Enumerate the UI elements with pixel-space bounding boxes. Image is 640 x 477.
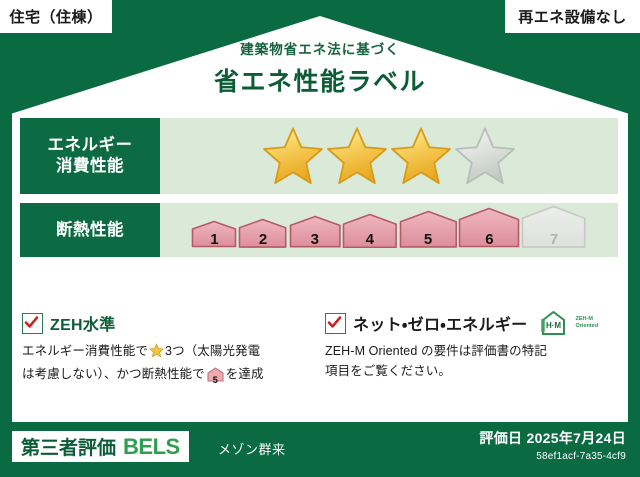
star-icon: [149, 347, 164, 361]
zeh-logo-caption-line1: ZEH-M: [575, 316, 592, 322]
title-main: 省エネ性能ラベル: [0, 62, 640, 98]
row-energy-label-line2: 消費性能: [56, 156, 124, 177]
row-insulation-label-text: 断熱性能: [56, 220, 124, 241]
note-nze-header: ネット・ゼロ・エネルギー H·M ZEH-M Oriented: [325, 312, 618, 334]
evaluation-info: 評価日 2025年7月24日 58ef1acf-7a35-4cf9: [479, 428, 626, 462]
row-energy-label: エネルギー 消費性能: [20, 118, 160, 194]
row-insulation-value: 1234567: [160, 203, 618, 257]
note-nze-title: ネット・ゼロ・エネルギー: [353, 311, 527, 335]
bels-en-text: BELS: [123, 434, 180, 460]
note-net-zero-energy: ネット・ゼロ・エネルギー H·M ZEH-M Oriented ZEH-M Or…: [325, 312, 618, 389]
notes-section: ZEH水準 エネルギー消費性能で3つ（太陽光発電は考慮しない）、かつ断熱性能で5…: [22, 312, 618, 389]
note-zeh-standard: ZEH水準 エネルギー消費性能で3つ（太陽光発電は考慮しない）、かつ断熱性能で5…: [22, 312, 315, 389]
row-energy-value: [160, 118, 618, 194]
note-zeh-header: ZEH水準: [22, 312, 315, 334]
house-icon-filled: 3: [289, 215, 341, 253]
title-subtitle: 建築物省エネ法に基づく: [0, 38, 640, 58]
checkmark-icon: [325, 313, 346, 334]
building-name: メゾン群来: [218, 439, 286, 458]
star-icon-empty: [454, 125, 516, 187]
checkmark-icon: [22, 313, 43, 334]
evaluation-id: 58ef1acf-7a35-4cf9: [479, 451, 626, 462]
inline-house-value: 5: [207, 373, 224, 388]
note-zeh-text-3: は考慮しない）、かつ断熱性能で: [22, 367, 205, 381]
note-zeh-text-1: エネルギー消費性能で: [22, 344, 148, 358]
note-zeh-body: エネルギー消費性能で3つ（太陽光発電は考慮しない）、かつ断熱性能で5を達成: [22, 341, 315, 389]
house-rating-scale: 1234567: [191, 205, 586, 256]
house-icon-filled: 6: [458, 207, 520, 253]
row-energy-performance: エネルギー 消費性能: [20, 118, 618, 194]
zeh-m-oriented-logo: H·M ZEH-M Oriented: [540, 310, 598, 336]
star-rating: [262, 125, 516, 187]
label-footer: 第三者評価 BELS メゾン群来 評価日 2025年7月24日 58ef1acf…: [0, 422, 640, 477]
note-nze-text-line1: ZEH-M Oriented の要件は評価書の特記: [325, 344, 547, 358]
tag-building-type: 住宅（住棟）: [0, 0, 112, 33]
note-zeh-title: ZEH水準: [50, 311, 116, 335]
house-icon-filled: 5: [399, 210, 458, 253]
star-icon-filled: [262, 125, 324, 187]
star-icon-filled: [326, 125, 388, 187]
evaluation-date: 評価日 2025年7月24日: [479, 428, 626, 448]
svg-text:H·M: H·M: [546, 321, 561, 330]
bels-jp-text: 第三者評価: [21, 433, 116, 460]
energy-label-root: 住宅（住棟） 再エネ設備なし 建築物省エネ法に基づく 省エネ性能ラベル エネルギ…: [0, 0, 640, 477]
note-zeh-text-2: 3つ（太陽光発電: [165, 344, 260, 358]
label-title-block: 建築物省エネ法に基づく 省エネ性能ラベル: [0, 38, 640, 98]
note-nze-body: ZEH-M Oriented の要件は評価書の特記 項目をご覧ください。: [325, 341, 618, 382]
house-icon: 5: [207, 367, 224, 388]
note-zeh-text-4: を達成: [226, 367, 264, 381]
row-insulation-performance: 断熱性能 1234567: [20, 203, 618, 257]
house-icon-empty: 7: [521, 205, 586, 254]
row-insulation-label: 断熱性能: [20, 203, 160, 257]
row-energy-label-line1: エネルギー: [48, 135, 133, 156]
house-icon-filled: 1: [191, 220, 237, 253]
zeh-logo-caption-line2: Oriented: [575, 323, 598, 329]
bels-logo: 第三者評価 BELS: [12, 431, 189, 462]
house-icon-filled: 4: [342, 213, 398, 254]
star-icon-filled: [390, 125, 452, 187]
note-nze-text-line2: 項目をご覧ください。: [325, 364, 451, 378]
tag-renewable-energy: 再エネ設備なし: [505, 0, 640, 33]
metrics-section: エネルギー 消費性能 断熱性能 1234567: [20, 118, 618, 266]
house-icon-filled: 2: [238, 218, 287, 254]
